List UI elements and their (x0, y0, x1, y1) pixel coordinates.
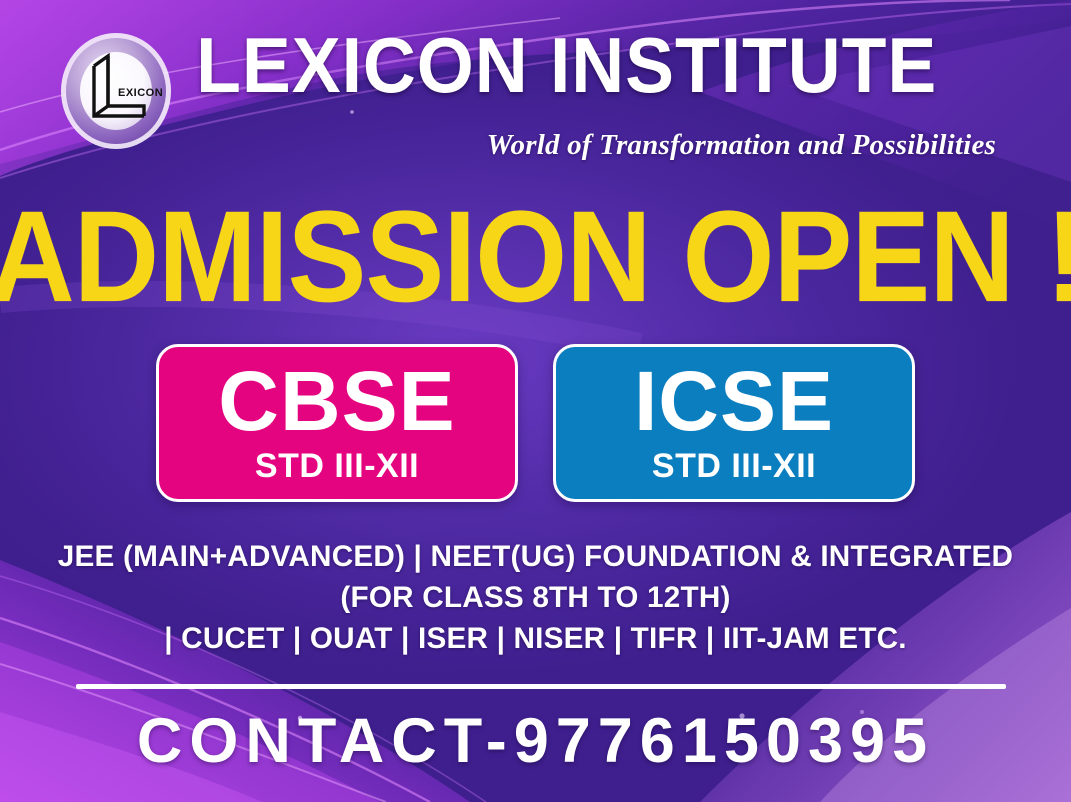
board-badges: CBSE STD III-XII ICSE STD III-XII (0, 344, 1071, 502)
courses-line-2: (FOR CLASS 8TH TO 12TH) (5, 577, 1065, 618)
board-badge-icse: ICSE STD III-XII (553, 344, 915, 502)
board-standard-icse: STD III-XII (652, 447, 816, 485)
board-badge-cbse: CBSE STD III-XII (156, 344, 518, 502)
page-title: LEXICON INSTITUTE (186, 22, 947, 108)
lexicon-logo: EXICON (58, 30, 174, 152)
contact-number: CONTACT-9776150395 (0, 702, 1071, 780)
headline-admission-open: ADMISSION OPEN ! (0, 188, 1071, 325)
board-name-cbse: CBSE (218, 359, 455, 443)
board-standard-cbse: STD III-XII (255, 447, 419, 485)
admission-poster: EXICON LEXICON INSTITUTE World of Transf… (0, 0, 1071, 802)
courses-line-1: JEE (MAIN+ADVANCED) | NEET(UG) FOUNDATIO… (5, 536, 1065, 577)
logo-wordmark: EXICON (118, 87, 163, 99)
lexicon-circular-logo-icon: EXICON (58, 30, 174, 152)
board-name-icse: ICSE (634, 359, 834, 443)
horizontal-divider (76, 684, 1006, 689)
brand-tagline: World of Transformation and Possibilitie… (186, 128, 1004, 162)
poster-header: EXICON LEXICON INSTITUTE World of Transf… (0, 0, 1071, 175)
courses-line-3: | CUCET | OUAT | ISER | NISER | TIFR | I… (5, 618, 1065, 659)
courses-list: JEE (MAIN+ADVANCED) | NEET(UG) FOUNDATIO… (5, 536, 1065, 659)
